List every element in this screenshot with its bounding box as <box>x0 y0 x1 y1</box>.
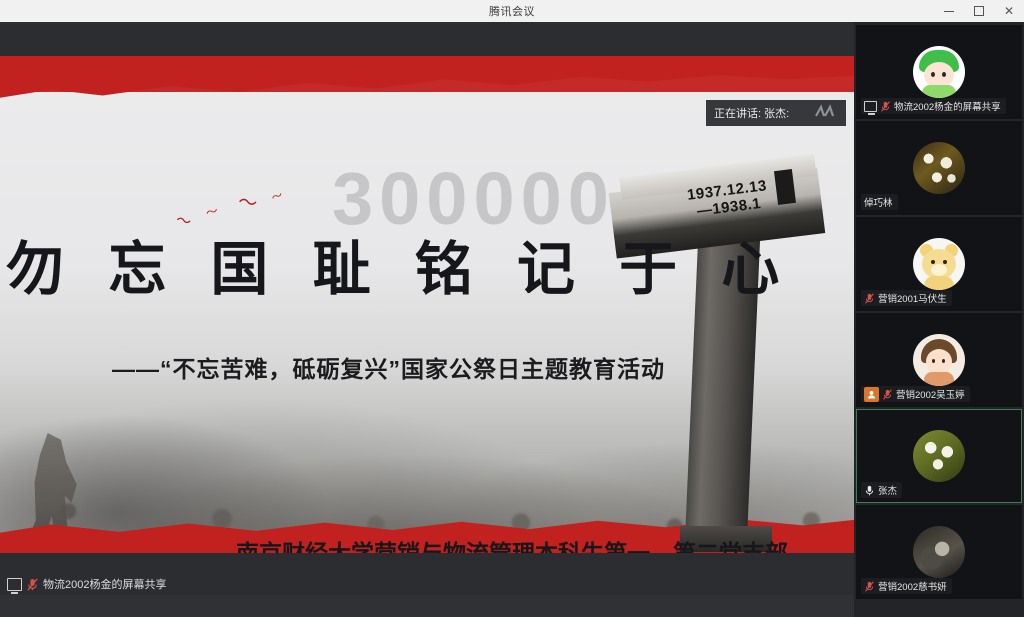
window-title: 腾讯会议 <box>489 3 535 19</box>
sharer-status-bar: 物流2002杨金的屏幕共享 <box>0 573 854 595</box>
bird-icon: 〜 <box>270 190 285 205</box>
microphone-muted-icon <box>864 581 875 592</box>
participant-tile[interactable]: 倬巧林 <box>856 121 1022 215</box>
participant-label: 张杰 <box>861 482 902 498</box>
slide-organization: 南京财经大学营销与物流管理本科生第一、第二党支部 <box>236 534 788 553</box>
slide-subtitle: ——“不忘苦难，砥砺复兴”国家公祭日主题教育活动 <box>112 350 665 384</box>
participant-name: 营销2001马伏生 <box>878 291 947 305</box>
participant-name: 营销2002慈书妍 <box>878 579 947 593</box>
microphone-muted-icon <box>880 101 891 112</box>
tencent-meeting-window: 腾讯会议 ✕ 300000 1937.12.13 <box>0 0 1024 617</box>
speaking-indicator: 正在讲话: 张杰: <box>706 100 846 126</box>
participant-tile[interactable]: 营销2002慈书妍 <box>856 505 1022 599</box>
bird-icon: 〜 <box>204 204 219 219</box>
slide-title: 勿 忘 国 耻 铭 记 于 心 <box>6 222 791 306</box>
microphone-muted-icon <box>864 293 875 304</box>
maximize-icon[interactable] <box>964 0 994 22</box>
participant-name: 张杰 <box>878 483 897 497</box>
participant-label: 营销2001马伏生 <box>861 290 952 306</box>
microphone-icon <box>864 485 875 496</box>
screen-share-icon <box>7 578 22 591</box>
avatar <box>913 334 965 386</box>
screen-share-icon <box>864 101 877 112</box>
shared-screen-stage[interactable]: 300000 1937.12.13 —1938.1 〜 〜 〜 〜 <box>0 22 854 595</box>
minimize-icon[interactable] <box>934 0 964 22</box>
memorial-monument: 1937.12.13 —1938.1 <box>604 118 834 538</box>
sharer-label: 物流2002杨金的屏幕共享 <box>43 576 166 592</box>
participant-label: 营销2002吴玉婷 <box>861 386 970 402</box>
avatar <box>913 142 965 194</box>
avatar <box>913 46 965 98</box>
participant-label: 倬巧林 <box>861 194 898 210</box>
presentation-slide: 300000 1937.12.13 —1938.1 〜 〜 〜 〜 <box>0 56 854 553</box>
participant-tile[interactable]: 营销2001马伏生 <box>856 217 1022 311</box>
participant-tile-active-speaker[interactable]: 张杰 <box>856 409 1022 503</box>
participant-label: 营销2002慈书妍 <box>861 578 952 594</box>
avatar <box>913 430 965 482</box>
window-controls: ✕ <box>934 0 1024 22</box>
participant-name: 营销2002吴玉婷 <box>896 387 965 401</box>
microphone-muted-icon <box>27 578 38 591</box>
participant-tile[interactable]: 营销2002吴玉婷 <box>856 313 1022 407</box>
speaking-label: 正在讲话: 张杰: <box>714 105 789 121</box>
avatar <box>913 238 965 290</box>
bird-icon: 〜 <box>237 193 258 214</box>
close-icon[interactable]: ✕ <box>994 0 1024 22</box>
participant-tile[interactable]: 物流2002杨金的屏幕共享 <box>856 25 1022 119</box>
participant-label: 物流2002杨金的屏幕共享 <box>861 98 1006 114</box>
sound-wave-icon <box>814 104 836 122</box>
avatar <box>913 526 965 578</box>
photo-badge-icon <box>864 387 879 402</box>
participant-name: 物流2002杨金的屏幕共享 <box>894 99 1001 113</box>
microphone-muted-icon <box>882 389 893 400</box>
participants-rail[interactable]: 物流2002杨金的屏幕共享 倬巧林 <box>854 22 1024 617</box>
title-bar: 腾讯会议 ✕ <box>0 0 1024 22</box>
participant-name: 倬巧林 <box>864 195 893 209</box>
